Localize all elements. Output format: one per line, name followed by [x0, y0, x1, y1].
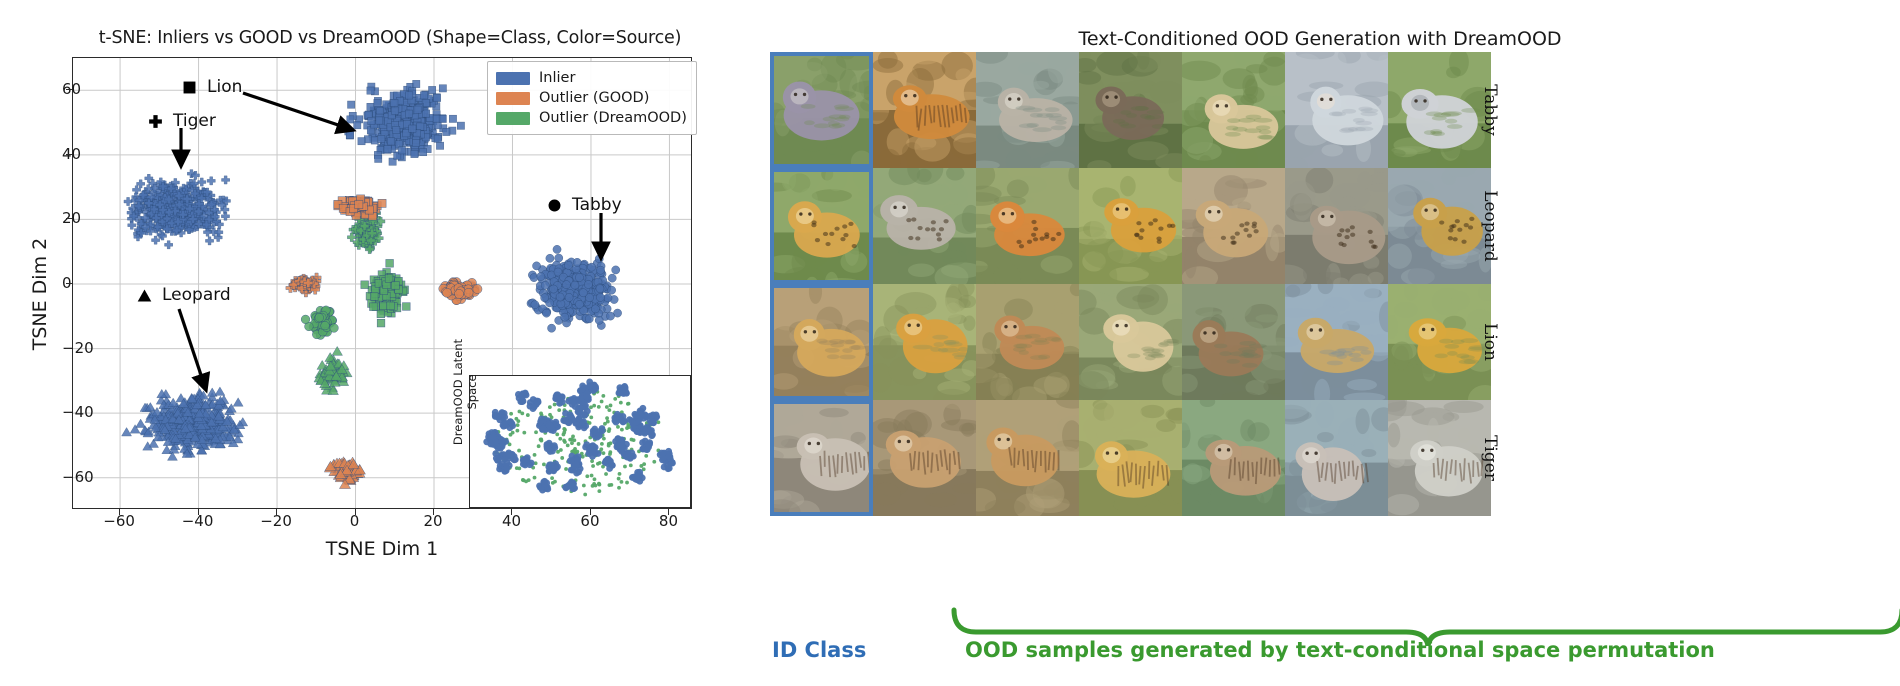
- photo-thumbnail: [976, 52, 1079, 168]
- photo-thumbnail: [976, 284, 1079, 400]
- annotation-lion: Lion: [181, 77, 242, 97]
- grid-row: Tabby: [770, 52, 1491, 168]
- x-axis-label: TSNE Dim 1: [72, 538, 692, 560]
- photo-thumbnail: [1079, 284, 1182, 400]
- cluster-inlier-lion: [345, 80, 465, 165]
- annotation-label-tabby: Tabby: [572, 195, 622, 215]
- y-tick-mark: [66, 348, 72, 349]
- y-tick-mark: [66, 218, 72, 219]
- y-tick-mark: [66, 412, 72, 413]
- grid-title: Text-Conditioned OOD Generation with Dre…: [920, 28, 1720, 50]
- legend-swatch-good: [496, 92, 530, 105]
- grid-row: Tiger: [770, 400, 1491, 516]
- ood-sample-image: [1079, 52, 1182, 168]
- ood-sample-image: [1182, 400, 1285, 516]
- row-label-tiger: Tiger: [1480, 399, 1500, 517]
- photo-thumbnail: [1079, 400, 1182, 516]
- ood-sample-image: [1285, 284, 1388, 400]
- photo-thumbnail: [770, 284, 873, 400]
- plot-legend: Inlier Outlier (GOOD) Outlier (DreamOOD): [487, 61, 697, 135]
- photo-thumbnail: [1285, 168, 1388, 284]
- y-tick-mark: [66, 89, 72, 90]
- legend-item: Outlier (DreamOOD): [496, 108, 687, 128]
- legend-label-good: Outlier (GOOD): [539, 90, 649, 106]
- grid-row: Leopard: [770, 168, 1491, 284]
- plus-marker-icon: [147, 113, 164, 130]
- ood-sample-image: [873, 400, 976, 516]
- inset-canvas: [470, 376, 691, 508]
- triangle-marker-icon: [136, 287, 153, 304]
- photo-thumbnail: [1285, 52, 1388, 168]
- photo-thumbnail: [1079, 52, 1182, 168]
- photo-thumbnail: [1388, 284, 1491, 400]
- row-label-tabby: Tabby: [1480, 51, 1500, 169]
- photo-thumbnail: [1285, 400, 1388, 516]
- y-axis-label: TSNE Dim 2: [29, 174, 51, 414]
- x-tick-mark: [355, 509, 356, 515]
- caption-id-class: ID Class: [772, 638, 866, 662]
- photo-thumbnail: [873, 400, 976, 516]
- photo-thumbnail: [770, 52, 873, 168]
- ood-sample-image: [1388, 400, 1491, 516]
- photo-thumbnail: [1182, 168, 1285, 284]
- id-class-image: [770, 52, 873, 168]
- photo-thumbnail: [976, 400, 1079, 516]
- ood-sample-image: [976, 284, 1079, 400]
- sample-grid: TabbyLeopardLionTiger: [770, 52, 1491, 516]
- row-label-lion: Lion: [1480, 283, 1500, 401]
- cluster-inlier-leopard: [122, 387, 248, 460]
- ood-sample-image: [1285, 168, 1388, 284]
- photo-thumbnail: [1182, 52, 1285, 168]
- x-tick-mark: [276, 509, 277, 515]
- ood-sample-image: [1182, 52, 1285, 168]
- annotation-label-tiger: Tiger: [173, 111, 216, 131]
- ood-sample-image: [1388, 168, 1491, 284]
- cluster-outlierdreamood-leopard: [314, 346, 352, 394]
- row-label-leopard: Leopard: [1480, 167, 1500, 285]
- legend-label-dreamood: Outlier (DreamOOD): [539, 110, 687, 126]
- photo-thumbnail: [770, 400, 873, 516]
- photo-thumbnail: [1079, 168, 1182, 284]
- id-class-image: [770, 284, 873, 400]
- cluster-outlierdreamood-tabby: [301, 306, 338, 340]
- annotation-label-lion: Lion: [207, 77, 242, 97]
- cluster-outliergood-tiger: [286, 273, 321, 297]
- cluster-inlier-tabby: [527, 245, 622, 332]
- plot-title: t-SNE: Inliers vs GOOD vs DreamOOD (Shap…: [60, 28, 720, 48]
- photo-thumbnail: [873, 52, 976, 168]
- x-tick-mark: [433, 509, 434, 515]
- inset-label: DreamOOD Latent Space: [451, 328, 479, 456]
- cluster-outlierdreamood-lion: [361, 259, 410, 327]
- photo-thumbnail: [873, 168, 976, 284]
- x-tick-mark: [119, 509, 120, 515]
- legend-item: Inlier: [496, 68, 687, 88]
- image-grid-panel: Text-Conditioned OOD Generation with Dre…: [760, 0, 1900, 686]
- annotation-label-leopard: Leopard: [162, 285, 231, 305]
- annotation-tiger: Tiger: [147, 111, 216, 131]
- caption-ood-samples: OOD samples generated by text-conditiona…: [965, 638, 1715, 662]
- ood-sample-image: [976, 168, 1079, 284]
- ood-sample-image: [873, 168, 976, 284]
- legend-swatch-inlier: [496, 72, 530, 85]
- ood-sample-image: [873, 284, 976, 400]
- id-class-image: [770, 168, 873, 284]
- photo-thumbnail: [1388, 168, 1491, 284]
- cluster-outliergood-leopard: [324, 457, 365, 489]
- legend-swatch-dreamood: [496, 112, 530, 125]
- ood-sample-image: [976, 52, 1079, 168]
- ood-sample-image: [1388, 52, 1491, 168]
- figure-root: t-SNE: Inliers vs GOOD vs DreamOOD (Shap…: [0, 0, 1900, 686]
- inset-latent-space: [469, 375, 691, 508]
- annotation-leopard: Leopard: [136, 285, 231, 305]
- ood-sample-image: [1285, 52, 1388, 168]
- photo-thumbnail: [1388, 400, 1491, 516]
- ood-sample-image: [1285, 400, 1388, 516]
- ood-sample-image: [1079, 284, 1182, 400]
- x-tick-mark: [668, 509, 669, 515]
- x-tick-mark: [198, 509, 199, 515]
- photo-thumbnail: [873, 284, 976, 400]
- ood-sample-image: [1182, 168, 1285, 284]
- annotation-tabby: Tabby: [546, 195, 622, 215]
- y-tick-mark: [66, 154, 72, 155]
- ood-sample-image: [1079, 168, 1182, 284]
- cluster-outliergood-tabby: [439, 277, 482, 304]
- photo-thumbnail: [1388, 52, 1491, 168]
- grid-row: Lion: [770, 284, 1491, 400]
- ood-sample-image: [976, 400, 1079, 516]
- ood-sample-image: [1388, 284, 1491, 400]
- x-tick-mark: [511, 509, 512, 515]
- circle-marker-icon: [546, 197, 563, 214]
- photo-thumbnail: [976, 168, 1079, 284]
- ood-sample-image: [1182, 284, 1285, 400]
- ood-sample-image: [1079, 400, 1182, 516]
- photo-thumbnail: [1182, 284, 1285, 400]
- cluster-inlier-tiger: [124, 170, 231, 249]
- ood-sample-image: [873, 52, 976, 168]
- photo-thumbnail: [1182, 400, 1285, 516]
- legend-label-inlier: Inlier: [539, 70, 575, 86]
- x-tick-mark: [590, 509, 591, 515]
- y-tick-mark: [66, 283, 72, 284]
- y-tick-mark: [66, 477, 72, 478]
- tsne-plot-panel: t-SNE: Inliers vs GOOD vs DreamOOD (Shap…: [0, 0, 760, 686]
- id-class-image: [770, 400, 873, 516]
- photo-thumbnail: [1285, 284, 1388, 400]
- square-marker-icon: [181, 79, 198, 96]
- photo-thumbnail: [770, 168, 873, 284]
- legend-item: Outlier (GOOD): [496, 88, 687, 108]
